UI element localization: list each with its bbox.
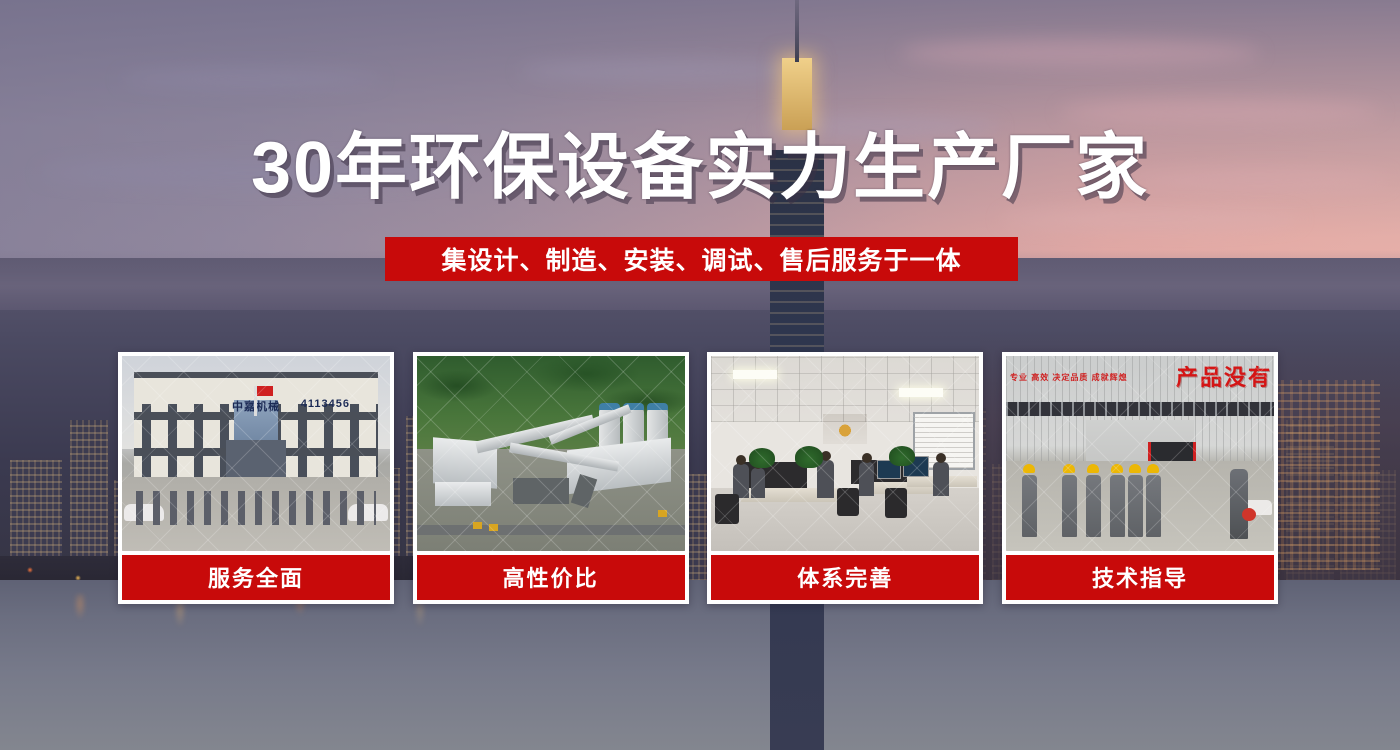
card-photo-office-building: 中嘉机械 4113456 xyxy=(122,356,390,551)
card-photo-workers-training: 产品没有 专业 高效 决定品质 成就辉煌 xyxy=(1006,356,1274,551)
feature-card-list: 中嘉机械 4113456 服务全面 xyxy=(118,352,1278,604)
banner-content: 30年环保设备实力生产厂家 集设计、制造、安装、调试、售后服务于一体 中嘉机械 … xyxy=(0,0,1400,750)
subtitle-text: 集设计、制造、安装、调试、售后服务于一体 xyxy=(441,241,961,277)
feature-card[interactable]: 中嘉机械 4113456 服务全面 xyxy=(118,352,394,604)
card-label-text: 服务全面 xyxy=(208,561,304,593)
feature-card[interactable]: 产品没有 专业 高效 决定品质 成就辉煌 xyxy=(1002,352,1278,604)
card-label-bar: 技术指导 xyxy=(1006,555,1274,600)
card-label-bar: 体系完善 xyxy=(711,555,979,600)
page-title: 30年环保设备实力生产厂家 xyxy=(0,132,1400,204)
card-label-bar: 服务全面 xyxy=(122,555,390,600)
factory-sign-text: 产品没有 xyxy=(1176,360,1272,392)
feature-card[interactable]: 高性价比 xyxy=(413,352,689,604)
building-phone-text: 4113456 xyxy=(301,398,350,410)
card-label-text: 技术指导 xyxy=(1092,561,1188,593)
card-photo-office-interior xyxy=(711,356,979,551)
card-photo-aerial-plant xyxy=(417,356,685,551)
card-label-bar: 高性价比 xyxy=(417,555,685,600)
subtitle-banner: 集设计、制造、安装、调试、售后服务于一体 xyxy=(385,237,1018,281)
card-label-text: 高性价比 xyxy=(503,561,599,593)
feature-card[interactable]: 体系完善 xyxy=(707,352,983,604)
factory-slogan-text: 专业 高效 决定品质 成就辉煌 xyxy=(1010,372,1128,383)
banner-stage: 30年环保设备实力生产厂家 集设计、制造、安装、调试、售后服务于一体 中嘉机械 … xyxy=(0,0,1400,750)
card-label-text: 体系完善 xyxy=(797,561,893,593)
